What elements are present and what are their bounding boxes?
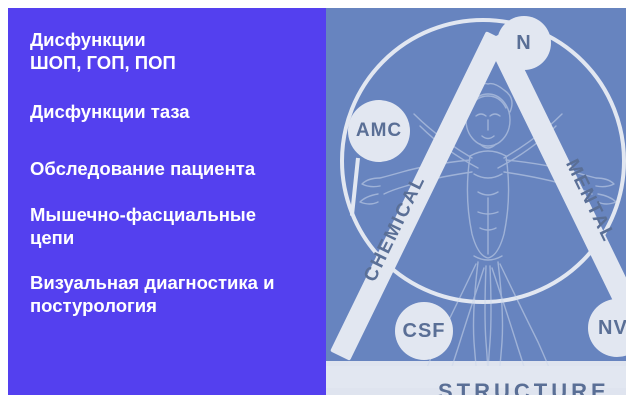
topic-item-5: Визуальная диагностика и постурология	[30, 271, 308, 317]
topic-item-4-line-2: цепи	[30, 226, 308, 249]
topic-item-2: Дисфункции таза	[30, 100, 308, 123]
slide-canvas: CHEMICAL MENTAL STRUCTURE N AMC CSF NV Д…	[0, 0, 626, 403]
node-n[interactable]: N	[497, 16, 551, 70]
topic-item-4: Мышечно-фасциальные цепи	[30, 203, 308, 249]
topic-item-5-line-2: постурология	[30, 294, 308, 317]
node-csf[interactable]: CSF	[395, 302, 453, 360]
spacer-2	[30, 123, 308, 157]
topic-item-2-line-1: Дисфункции таза	[30, 100, 308, 123]
node-amc[interactable]: AMC	[348, 100, 410, 162]
topic-item-1-line-2: ШОП, ГОП, ПОП	[30, 51, 308, 74]
spacer-4	[30, 249, 308, 271]
topic-item-3: Обследование пациента	[30, 157, 308, 180]
topic-item-3-line-1: Обследование пациента	[30, 157, 308, 180]
triangle-label-structure: STRUCTURE	[438, 379, 610, 395]
topic-item-1-line-1: Дисфункции	[30, 28, 308, 51]
spacer-3	[30, 181, 308, 203]
spacer-1	[30, 74, 308, 100]
topic-item-4-line-1: Мышечно-фасциальные	[30, 203, 308, 226]
topic-item-5-line-1: Визуальная диагностика и	[30, 271, 308, 294]
topic-item-1: Дисфункции ШОП, ГОП, ПОП	[30, 28, 308, 74]
topics-panel: Дисфункции ШОП, ГОП, ПОП Дисфункции таза…	[8, 8, 326, 395]
